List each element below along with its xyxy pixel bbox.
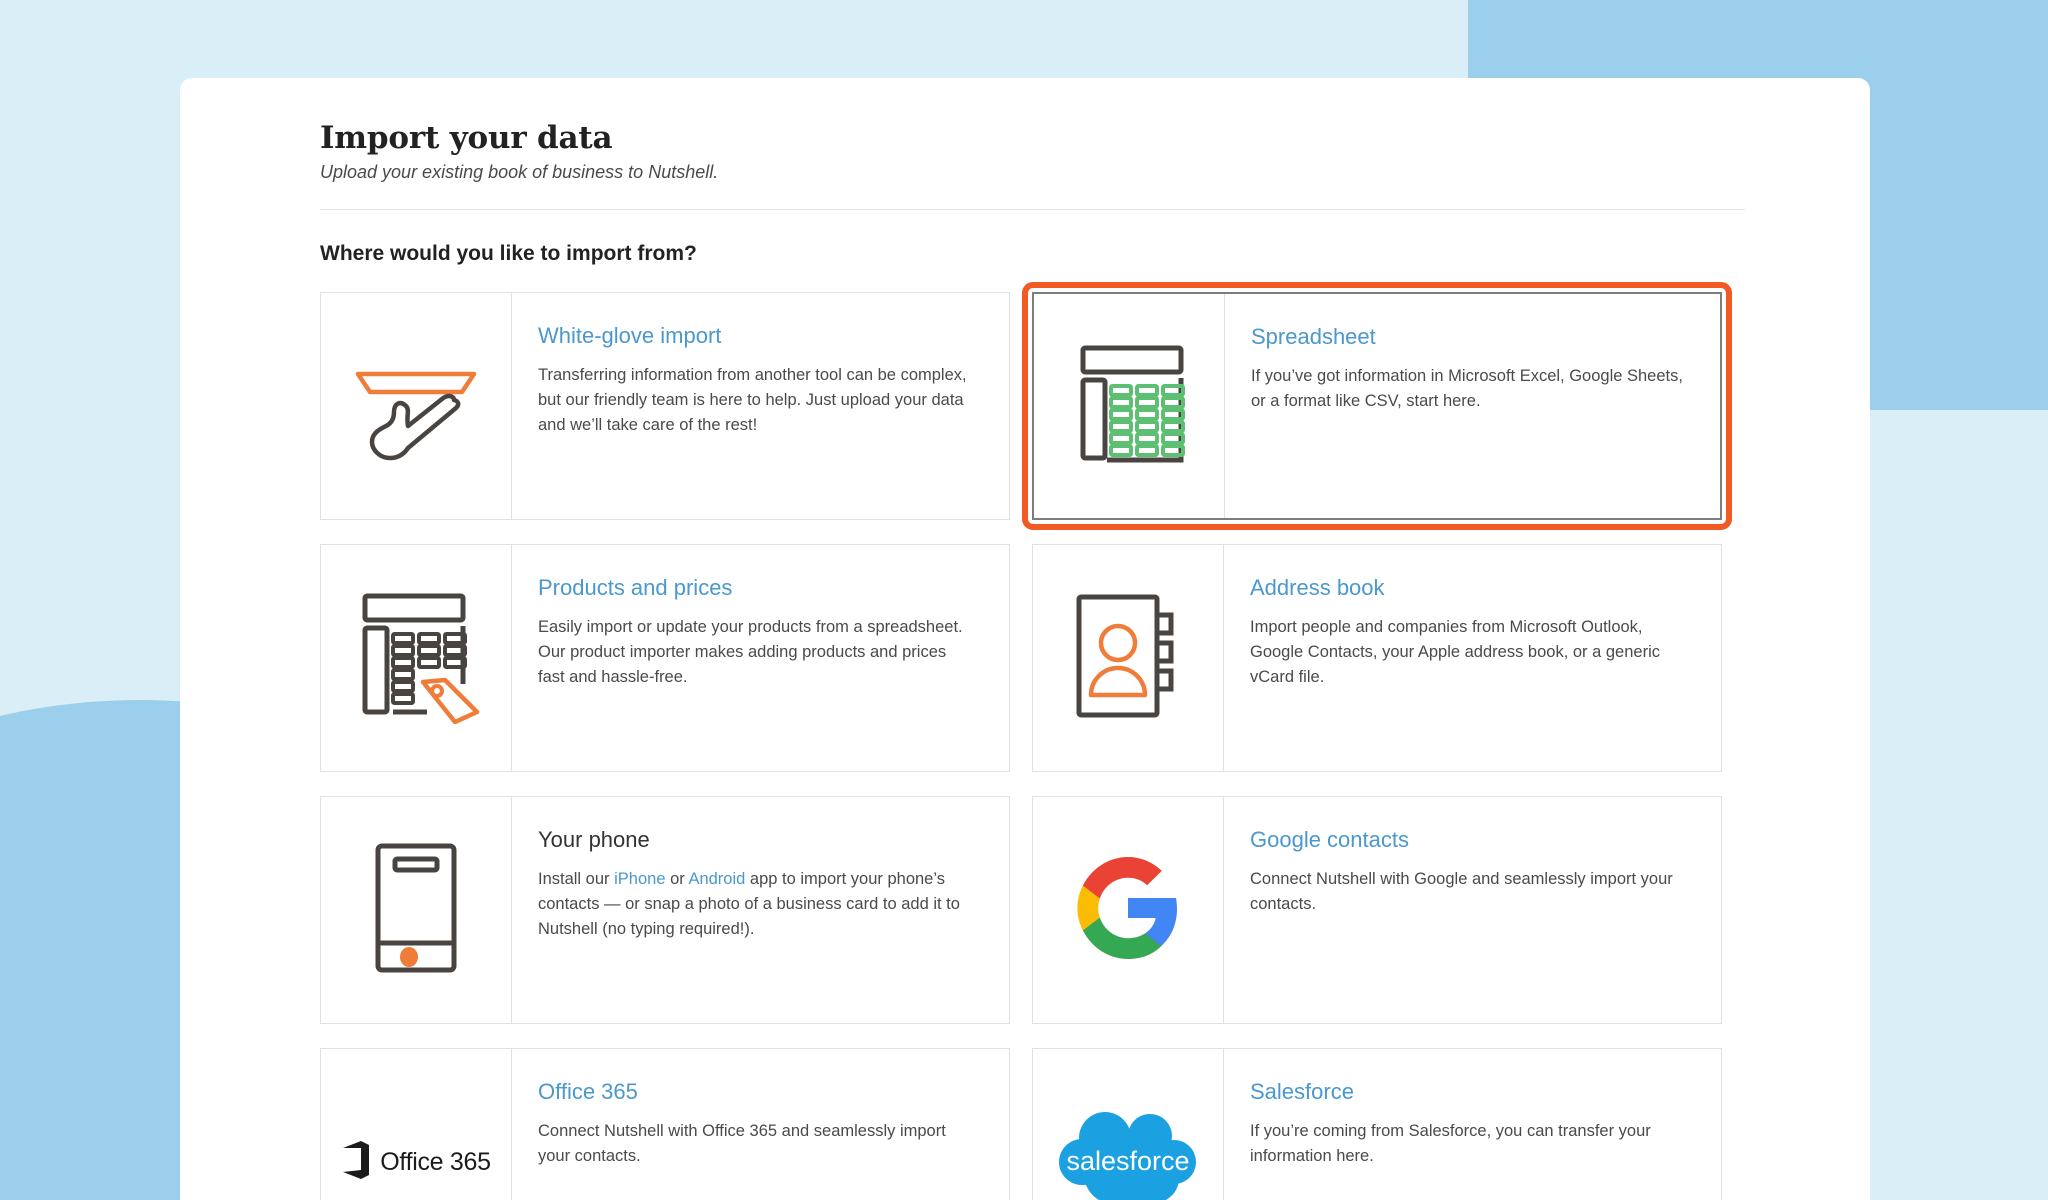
page-subtitle: Upload your existing book of business to… bbox=[320, 162, 1800, 183]
import-card-slot: White-glove importTransferring informati… bbox=[320, 292, 1010, 520]
import-card-slot: salesforceSalesforceIf you’re coming fro… bbox=[1032, 1048, 1722, 1200]
card-title[interactable]: Address book bbox=[1250, 575, 1687, 601]
card-body: Your phoneInstall our iPhone or Android … bbox=[512, 797, 1009, 1023]
import-card-slot: Office 365Office 365Connect Nutshell wit… bbox=[320, 1048, 1010, 1200]
import-source-card[interactable]: White-glove importTransferring informati… bbox=[320, 292, 1010, 520]
card-body: Google contactsConnect Nutshell with Goo… bbox=[1224, 797, 1721, 1023]
card-title[interactable]: Salesforce bbox=[1250, 1079, 1687, 1105]
card-icon-panel bbox=[1034, 294, 1225, 518]
page-title: Import your data bbox=[320, 120, 1800, 156]
white-glove-tray-icon bbox=[350, 344, 482, 469]
import-source-card[interactable]: Office 365Office 365Connect Nutshell wit… bbox=[320, 1048, 1010, 1200]
import-card-slot: Address bookImport people and companies … bbox=[1032, 544, 1722, 772]
import-card-selected: SpreadsheetIf you’ve got information in … bbox=[1032, 292, 1722, 520]
card-body: SpreadsheetIf you’ve got information in … bbox=[1225, 294, 1720, 518]
card-title[interactable]: Google contacts bbox=[1250, 827, 1687, 853]
office-365-logo-icon bbox=[341, 1139, 371, 1186]
card-icon-panel bbox=[1033, 797, 1224, 1023]
card-icon-panel bbox=[321, 293, 512, 519]
import-source-card[interactable]: Google contactsConnect Nutshell with Goo… bbox=[1032, 796, 1722, 1024]
header-divider bbox=[320, 209, 1745, 210]
card-body: Address bookImport people and companies … bbox=[1224, 545, 1721, 771]
card-description: If you’re coming from Salesforce, you ca… bbox=[1250, 1119, 1687, 1169]
office-365-wordmark: Office 365 bbox=[380, 1148, 491, 1177]
card-description: Install our iPhone or Android app to imp… bbox=[538, 867, 975, 943]
spreadsheet-icon bbox=[1067, 340, 1191, 473]
import-source-card[interactable]: Address bookImport people and companies … bbox=[1032, 544, 1722, 772]
card-body: Products and pricesEasily import or upda… bbox=[512, 545, 1009, 771]
card-title[interactable]: Office 365 bbox=[538, 1079, 975, 1105]
salesforce-cloud-logo-icon: salesforce bbox=[1058, 1104, 1198, 1200]
page-header: Import your data Upload your existing bo… bbox=[320, 114, 1800, 210]
card-description: Import people and companies from Microso… bbox=[1250, 615, 1687, 691]
description-text: or bbox=[666, 870, 689, 888]
google-logo-icon bbox=[1073, 853, 1183, 968]
import-card-slot: Products and pricesEasily import or upda… bbox=[320, 544, 1010, 772]
card-icon-panel bbox=[321, 545, 512, 771]
card-icon-panel: Office 365 bbox=[321, 1049, 512, 1200]
card-description: Connect Nutshell with Google and seamles… bbox=[1250, 867, 1687, 917]
import-source-card[interactable]: salesforceSalesforceIf you’re coming fro… bbox=[1032, 1048, 1722, 1200]
card-title[interactable]: White-glove import bbox=[538, 323, 975, 349]
description-text: Install our bbox=[538, 870, 614, 888]
card-title[interactable]: Products and prices bbox=[538, 575, 975, 601]
section-heading: Where would you like to import from? bbox=[320, 242, 1800, 266]
card-icon-panel bbox=[1033, 545, 1224, 771]
card-body: SalesforceIf you’re coming from Salesfor… bbox=[1224, 1049, 1721, 1200]
import-page-panel: Import your data Upload your existing bo… bbox=[180, 78, 1870, 1200]
card-body: White-glove importTransferring informati… bbox=[512, 293, 1009, 519]
import-source-card[interactable]: Products and pricesEasily import or upda… bbox=[320, 544, 1010, 772]
import-card-slot: Google contactsConnect Nutshell with Goo… bbox=[1032, 796, 1722, 1024]
import-source-card-grid: White-glove importTransferring informati… bbox=[320, 292, 1740, 1200]
card-body: Office 365Connect Nutshell with Office 3… bbox=[512, 1049, 1009, 1200]
card-description: Connect Nutshell with Office 365 and sea… bbox=[538, 1119, 975, 1169]
card-title[interactable]: Spreadsheet bbox=[1251, 324, 1686, 350]
products-price-tag-icon bbox=[349, 588, 483, 729]
inline-link-android[interactable]: Android bbox=[688, 870, 745, 888]
card-description: Transferring information from another to… bbox=[538, 363, 975, 439]
mobile-phone-icon bbox=[373, 841, 459, 980]
office-365-lockup: Office 365 bbox=[341, 1139, 491, 1186]
svg-text:salesforce: salesforce bbox=[1066, 1146, 1189, 1176]
import-source-card[interactable]: Your phoneInstall our iPhone or Android … bbox=[320, 796, 1010, 1024]
card-icon-panel bbox=[321, 797, 512, 1023]
import-card-slot: Your phoneInstall our iPhone or Android … bbox=[320, 796, 1010, 1024]
address-book-icon bbox=[1073, 591, 1183, 726]
card-title: Your phone bbox=[538, 827, 975, 853]
card-icon-panel: salesforce bbox=[1033, 1049, 1224, 1200]
inline-link-iphone[interactable]: iPhone bbox=[614, 870, 665, 888]
card-description: If you’ve got information in Microsoft E… bbox=[1251, 364, 1686, 414]
import-source-card[interactable]: SpreadsheetIf you’ve got information in … bbox=[1032, 292, 1722, 520]
card-description: Easily import or update your products fr… bbox=[538, 615, 975, 691]
